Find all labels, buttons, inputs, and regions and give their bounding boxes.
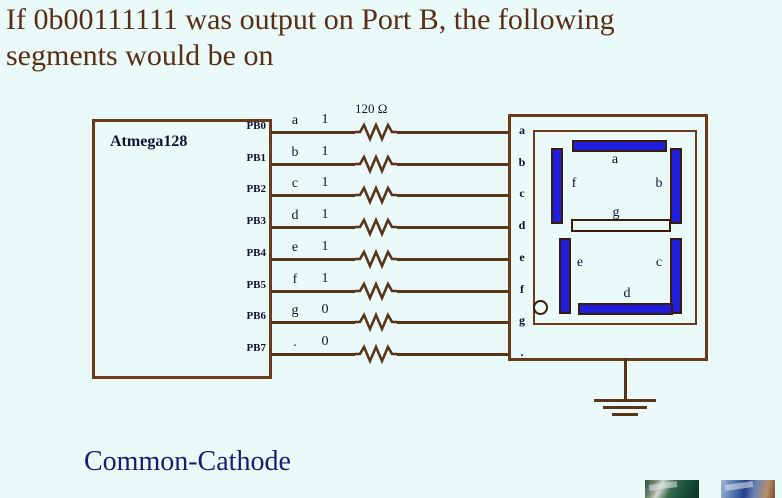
resistor-pb7 — [355, 344, 397, 364]
seven-segment-f — [551, 148, 563, 224]
wire-resistor-to-display-b — [397, 163, 508, 166]
wire-resistor-to-display-f — [397, 290, 508, 293]
thumbnail-strip — [645, 480, 782, 498]
resistor-value-label: 120 Ω — [355, 101, 387, 117]
wire-pb3-to-resistor — [272, 226, 355, 229]
signal-name-pb0: a — [286, 113, 304, 129]
mcu-pin-label-pb0: PB0 — [232, 120, 266, 132]
display-type-caption: Common-Cathode — [84, 446, 291, 478]
mcu-pin-label-pb1: PB1 — [232, 152, 266, 164]
segment-label-e: e — [572, 255, 588, 271]
thumbnail-image-2[interactable] — [721, 480, 775, 498]
mcu-pin-label-pb4: PB4 — [232, 247, 266, 259]
ground-bar-2 — [603, 406, 647, 409]
segment-label-c: c — [651, 255, 667, 271]
wire-pb1-to-resistor — [272, 163, 355, 166]
resistor-pb4 — [355, 249, 397, 269]
decimal-point-indicator — [533, 300, 548, 315]
signal-name-pb6: g — [286, 303, 304, 319]
resistor-pb6 — [355, 312, 397, 332]
wire-resistor-to-display-d — [397, 226, 508, 229]
mcu-pin-label-pb3: PB3 — [232, 215, 266, 227]
wire-pb6-to-resistor — [272, 321, 355, 324]
signal-name-pb1: b — [286, 145, 304, 161]
page-title: If 0b00111111 was output on Port B, the … — [6, 2, 778, 74]
bit-value-pb2: 1 — [316, 175, 334, 191]
thumbnail-image-1[interactable] — [645, 480, 699, 498]
signal-name-pb5: f — [286, 272, 304, 288]
ground-stem — [624, 358, 627, 400]
bit-value-pb4: 1 — [316, 239, 334, 255]
segment-label-f: f — [566, 176, 582, 192]
bit-value-pb5: 1 — [316, 271, 334, 287]
seven-segment-a — [572, 140, 667, 152]
resistor-pb1 — [355, 154, 397, 174]
wire-pb4-to-resistor — [272, 258, 355, 261]
bit-value-pb1: 1 — [316, 144, 334, 160]
thumbnail-highlight-1 — [649, 481, 678, 491]
wire-pb0-to-resistor — [272, 131, 355, 134]
mcu-pin-label-pb5: PB5 — [232, 279, 266, 291]
ground-bar-3 — [612, 413, 638, 416]
wire-pb7-to-resistor — [272, 353, 355, 356]
signal-name-pb2: c — [286, 176, 304, 192]
wire-resistor-to-display-a — [397, 131, 508, 134]
segment-label-a: a — [607, 152, 623, 168]
seven-segment-b — [670, 148, 682, 224]
title-line-2: segments would be on — [6, 38, 778, 74]
atmega128-label: Atmega128 — [110, 133, 187, 151]
ground-bar-1 — [594, 399, 656, 402]
resistor-pb3 — [355, 217, 397, 237]
mcu-pin-label-pb6: PB6 — [232, 310, 266, 322]
signal-name-pb7: . — [286, 335, 304, 351]
seven-segment-e — [559, 238, 571, 314]
slide-canvas: If 0b00111111 was output on Port B, the … — [0, 0, 782, 498]
title-line-1: If 0b00111111 was output on Port B, the … — [6, 2, 778, 38]
mcu-pin-label-pb2: PB2 — [232, 183, 266, 195]
thumbnail-highlight-2 — [725, 481, 754, 491]
bit-value-pb7: 0 — [316, 334, 334, 350]
segment-label-g: g — [608, 205, 624, 221]
seven-segment-d — [578, 303, 673, 315]
wire-resistor-to-display-c — [397, 194, 508, 197]
mcu-pin-label-pb7: PB7 — [232, 342, 266, 354]
wire-resistor-to-display-e — [397, 258, 508, 261]
bit-value-pb6: 0 — [316, 302, 334, 318]
wire-resistor-to-display-. — [397, 353, 508, 356]
signal-name-pb3: d — [286, 208, 304, 224]
wire-pb2-to-resistor — [272, 194, 355, 197]
resistor-pb5 — [355, 281, 397, 301]
segment-label-d: d — [619, 286, 635, 302]
wire-resistor-to-display-g — [397, 321, 508, 324]
bit-value-pb3: 1 — [316, 207, 334, 223]
segment-label-b: b — [651, 176, 667, 192]
signal-name-pb4: e — [286, 240, 304, 256]
resistor-pb0 — [355, 122, 397, 142]
resistor-pb2 — [355, 185, 397, 205]
wire-pb5-to-resistor — [272, 290, 355, 293]
bit-value-pb0: 1 — [316, 112, 334, 128]
